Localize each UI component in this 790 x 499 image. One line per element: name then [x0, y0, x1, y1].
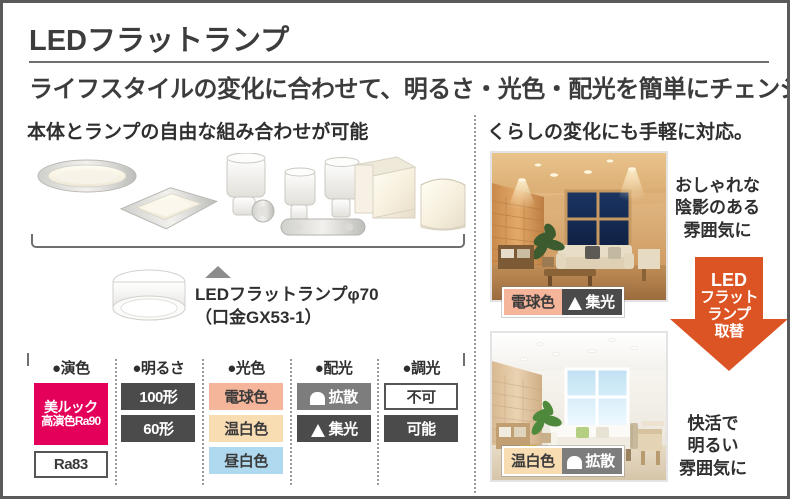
curved-bracket-light-illustration	[421, 179, 465, 230]
badge-color-label: 電球色	[504, 289, 562, 315]
lamp-label-line1: LEDフラットランプφ70	[195, 284, 379, 307]
spec-cell-shuukou[interactable]: 集光	[297, 415, 371, 442]
spec-column-dimming: ●調光 不可 可能	[377, 357, 465, 488]
infographic-page: LEDフラットランプ ライフスタイルの変化に合わせて、明るさ・光色・配光を簡単に…	[0, 0, 790, 499]
round-downlight-illustration	[38, 160, 136, 192]
spec-column-header: ●配光	[315, 357, 353, 378]
spec-cell-shuukou-label: 集光	[329, 418, 358, 439]
led-replace-arrow: LED フラット ランプ 取替	[670, 257, 788, 371]
spec-column-light-distribution: ●配光 拡散 集光	[290, 357, 378, 488]
page-title: LEDフラットランプ	[29, 17, 289, 59]
caption-top-line3: 雰囲気に	[675, 220, 760, 242]
badge-distribution-label: 集光	[586, 291, 615, 312]
spec-cell-fuka[interactable]: 不可	[384, 383, 458, 410]
wall-spotlight-single-illustration	[227, 153, 274, 222]
caption-bottom-line1: 快活で	[679, 413, 747, 435]
badge-distribution-label: 拡散	[586, 450, 615, 471]
caption-bottom-line3: 雰囲気に	[679, 458, 747, 480]
cube-bracket-light-illustration	[355, 157, 415, 218]
badge-distribution: 拡散	[562, 448, 622, 474]
arrow-text: LED フラット ランプ 取替	[670, 270, 788, 341]
badge-color-label: 温白色	[504, 448, 562, 474]
dome-icon	[567, 452, 586, 470]
dome-icon	[310, 388, 329, 406]
spec-cell-ra83[interactable]: Ra83	[34, 451, 108, 478]
page-subtitle: ライフスタイルの変化に合わせて、明るさ・光色・配光を簡単にチェンジ	[29, 69, 790, 104]
spec-cell-biruk[interactable]: 美ルック 高演色Ra90	[34, 383, 108, 445]
triangle-icon	[310, 420, 329, 438]
right-panel-heading: くらしの変化にも手軽に対応。	[487, 117, 753, 144]
caption-top: おしゃれな 陰影のある 雰囲気に	[675, 175, 760, 242]
arrow-line3: ランプ	[670, 307, 788, 324]
wall-spotlight-double-illustration	[281, 158, 365, 236]
spec-cell-100gata[interactable]: 100形	[121, 383, 195, 410]
arrow-line2: フラット	[670, 290, 788, 307]
spec-cell-kanou[interactable]: 可能	[384, 415, 458, 442]
arrow-line1: LED	[670, 270, 788, 290]
spec-column-header: ●調光	[402, 357, 440, 378]
spec-cell-denkyuushoku[interactable]: 電球色	[209, 383, 283, 410]
arrow-line4: 取替	[670, 324, 788, 341]
spec-column-header: ●演色	[52, 357, 90, 378]
panel-divider	[474, 115, 476, 493]
spec-cell-kakusan-label: 拡散	[329, 386, 358, 407]
spec-cell-chuuhakushoku[interactable]: 昼白色	[209, 447, 283, 474]
square-downlight-illustration	[119, 182, 220, 235]
biruk-line2: 高演色Ra90	[41, 415, 100, 429]
triangle-icon	[567, 293, 586, 311]
left-panel-heading: 本体とランプの自由な組み合わせが可能	[27, 117, 368, 144]
fixture-group-bracket	[31, 234, 465, 248]
photo-bottom-badge: 温白色 拡散	[502, 446, 624, 476]
spec-column-brightness: ●明るさ 100形 60形	[115, 357, 203, 488]
spec-column-color-rendering: ●演色 美ルック 高演色Ra90 Ra83	[27, 357, 115, 488]
spec-cell-60gata[interactable]: 60形	[121, 415, 195, 442]
lamp-label: LEDフラットランプφ70 （口金GX53-1）	[195, 284, 379, 330]
spec-column-header: ●光色	[227, 357, 265, 378]
warm-lit-living-room-photo	[490, 151, 668, 302]
spec-column-header: ●明るさ	[132, 357, 184, 378]
photo-top-badge: 電球色 集光	[502, 287, 624, 317]
lamp-label-line2: （口金GX53-1）	[195, 307, 379, 330]
biruk-line1: 美ルック	[44, 399, 98, 415]
spec-table: ●演色 美ルック 高演色Ra90 Ra83 ●明るさ 100形 60形 ●光色 …	[27, 353, 465, 488]
badge-distribution: 集光	[562, 289, 622, 315]
flat-lamp-illustration	[107, 266, 191, 332]
spec-column-light-color: ●光色 電球色 温白色 昼白色	[202, 357, 290, 488]
caption-top-line2: 陰影のある	[675, 197, 760, 219]
spec-cell-kakusan[interactable]: 拡散	[297, 383, 371, 410]
caption-bottom: 快活で 明るい 雰囲気に	[679, 413, 747, 480]
up-arrow-icon	[205, 266, 231, 278]
caption-bottom-line2: 明るい	[679, 435, 747, 457]
spec-cell-onpakushoku[interactable]: 温白色	[209, 415, 283, 442]
caption-top-line1: おしゃれな	[675, 175, 760, 197]
header-divider	[29, 61, 769, 63]
